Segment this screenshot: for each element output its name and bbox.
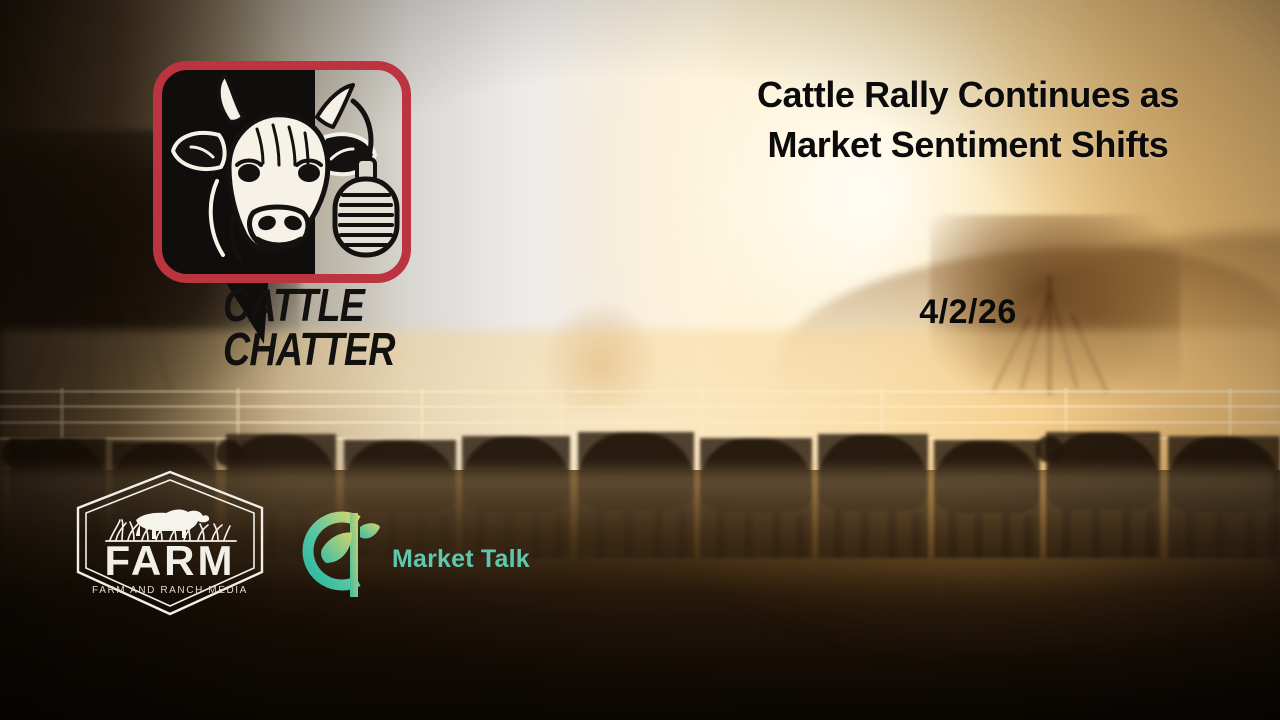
cattle-chatter-wordmark: CATTLE CHATTER	[223, 283, 387, 371]
date-label: 4/2/26	[706, 293, 1230, 332]
page-title: Cattle Rally Continues as Market Sentime…	[706, 70, 1230, 170]
circle-c-icon	[288, 505, 384, 597]
sprout-stem-icon	[350, 513, 358, 597]
cow-head-icon	[157, 63, 407, 288]
slide-canvas: CATTLE CHATTER Cattle Rally Continues as…	[0, 0, 1280, 720]
farm-tagline: FARM AND RANCH MEDIA	[70, 585, 270, 596]
market-talk-wordmark: Market Talk	[392, 545, 530, 574]
leaf-icon	[321, 533, 352, 563]
market-talk-logo[interactable]: Market Talk	[288, 505, 548, 597]
farm-wordmark: FARM	[70, 540, 270, 582]
cattle-chatter-logo[interactable]: CATTLE CHATTER	[145, 55, 415, 395]
farm-and-ranch-media-logo[interactable]: FARM FARM AND RANCH MEDIA	[70, 468, 270, 618]
